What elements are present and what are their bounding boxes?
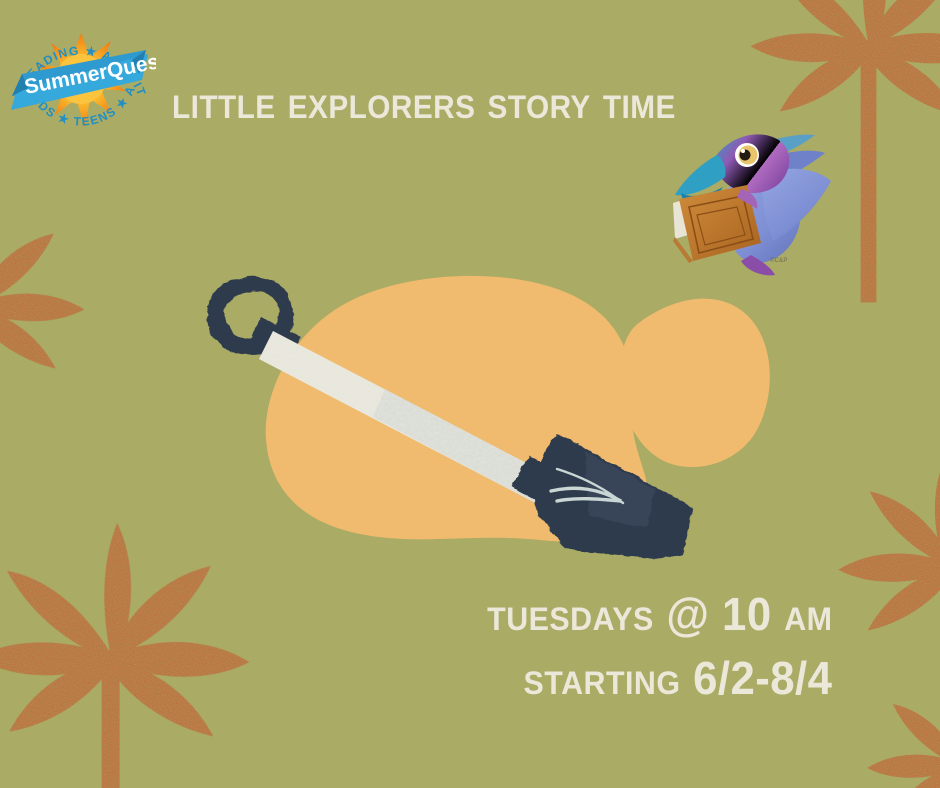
page-title: Little Explorers Story time [172, 79, 676, 127]
copyright-mark: ©C&P [770, 258, 788, 264]
event-dates-line: starting 6/2-8/4 [487, 646, 832, 710]
poster-canvas: READING ★ ACTIVITIES KIDS ★ TEENS ★ ADUL… [0, 0, 940, 788]
ptero-beak [675, 155, 726, 195]
shovel-shaft [259, 331, 557, 507]
summerquest-logo: READING ★ ACTIVITIES KIDS ★ TEENS ★ ADUL… [6, 4, 156, 154]
shovel-illustration [185, 255, 715, 560]
ptero-eye-glint [741, 149, 745, 153]
event-time-line: Tuesdays @ 10 AM [487, 582, 832, 646]
event-details: Tuesdays @ 10 AM starting 6/2-8/4 [469, 582, 832, 710]
